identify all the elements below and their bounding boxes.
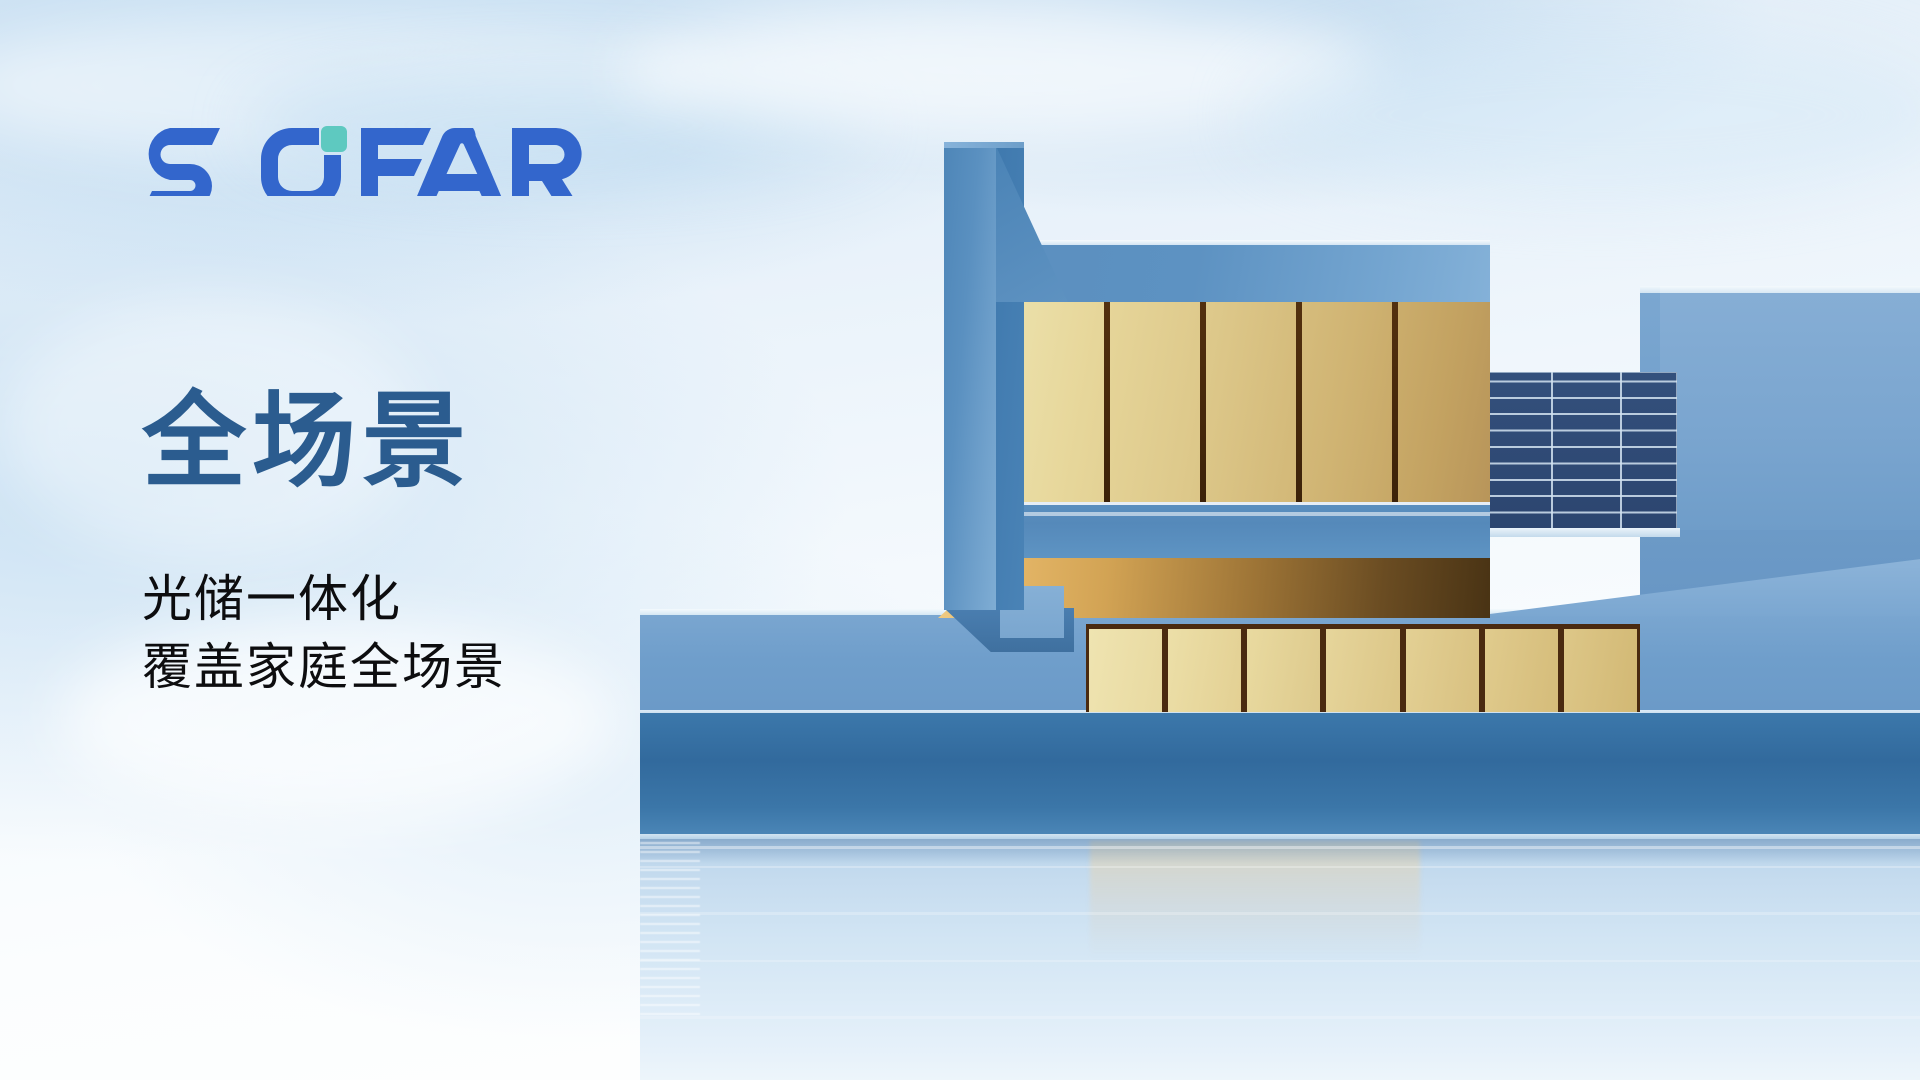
water-ripple <box>640 842 700 1022</box>
upper-sill-band <box>1000 500 1490 558</box>
fin-top-edge <box>944 142 1024 148</box>
window-pane <box>1485 629 1558 712</box>
page-title: 全场景 <box>142 390 472 494</box>
vertical-fin <box>944 146 996 610</box>
water-streak <box>640 960 1920 962</box>
sofar-logo[interactable] <box>142 118 582 196</box>
window-pane <box>1564 629 1637 712</box>
window-pane <box>1089 629 1162 712</box>
solar-panel-array <box>1482 372 1677 530</box>
upper-lintel-band <box>1000 244 1490 302</box>
sill-highlight <box>1000 512 1490 516</box>
window-pane <box>1406 629 1479 712</box>
water-streak <box>640 846 1920 849</box>
mullion <box>1200 300 1206 502</box>
window-pane <box>1326 629 1399 712</box>
right-upper-slab <box>1660 292 1920 530</box>
solar-panel-shelf <box>1482 528 1680 537</box>
water-streak <box>640 866 1920 868</box>
sofar-logo-svg <box>142 118 582 196</box>
mullion <box>1392 300 1398 502</box>
window-pane <box>1247 629 1320 712</box>
upper-lintel-edge <box>1000 240 1490 245</box>
water-shadow-reflection <box>640 838 1920 864</box>
hero-text-column <box>142 118 742 196</box>
right-upper-slab-edge <box>1660 286 1920 293</box>
building-plinth <box>640 712 1920 834</box>
water-streak <box>640 912 1920 915</box>
fin-diagonal-cut <box>996 146 1068 302</box>
hero-subtitle: 光储一体化 覆盖家庭全场景 <box>142 565 506 701</box>
upper-glass-curtain-wall <box>1000 300 1490 502</box>
mullion <box>1296 300 1302 502</box>
banner-stage: 全场景 光储一体化 覆盖家庭全场景 <box>0 0 1920 1080</box>
lower-window-strip <box>1086 624 1640 712</box>
subtitle-line-1: 光储一体化 <box>142 565 506 633</box>
mullion <box>1104 300 1110 502</box>
subtitle-line-2: 覆盖家庭全场景 <box>142 633 506 701</box>
window-pane <box>1168 629 1241 712</box>
water-streak <box>640 1016 1920 1019</box>
